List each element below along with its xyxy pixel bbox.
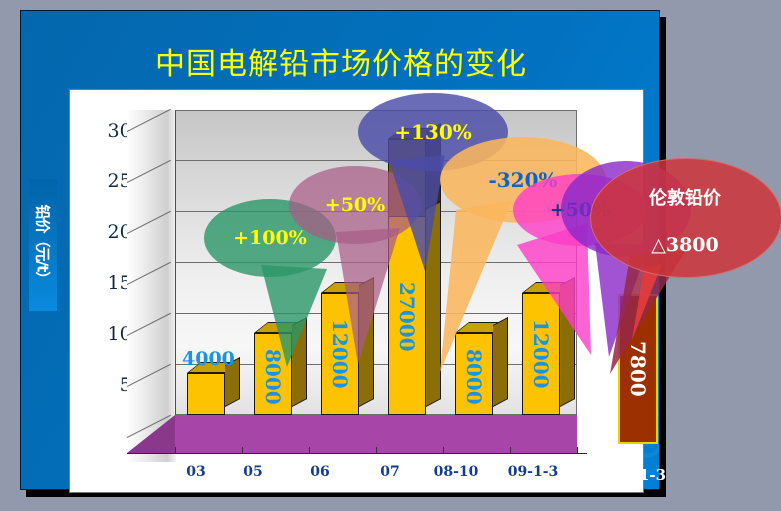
y-axis-title: 铅价（元/t） [33, 205, 54, 286]
callout-london-delta: △3800 [590, 158, 780, 276]
x-tick-label-05: 05 [233, 464, 273, 480]
slide: 中国电解铅市场价格的变化 铅价（元/t） 30000 25000 20000 1… [20, 10, 660, 490]
bar-03[interactable] [187, 373, 225, 415]
x-tick-label-06: 06 [300, 464, 340, 480]
bar-value-label-03: 4000 [182, 348, 235, 370]
x-tick-label-08-10: 08-10 [428, 464, 484, 480]
x-tick-label-03: 03 [176, 464, 216, 480]
y-axis-title-band: 铅价（元/t） [29, 179, 57, 311]
page-title: 中国电解铅市场价格的变化 [21, 39, 661, 83]
bar-front-face [187, 373, 225, 415]
callout-london-price[interactable]: 伦敦铅价 △3800 [590, 158, 780, 276]
chart-side-wall [127, 110, 176, 462]
x-tick-label-london: 09-1-3 [601, 466, 677, 484]
screenshot-root: 中国电解铅市场价格的变化 铅价（元/t） 30000 25000 20000 1… [0, 0, 781, 511]
x-tick-label-09-1-3: 09-1-3 [500, 464, 566, 480]
x-tick-label-07: 07 [370, 464, 410, 480]
chart-base-line [127, 453, 587, 454]
